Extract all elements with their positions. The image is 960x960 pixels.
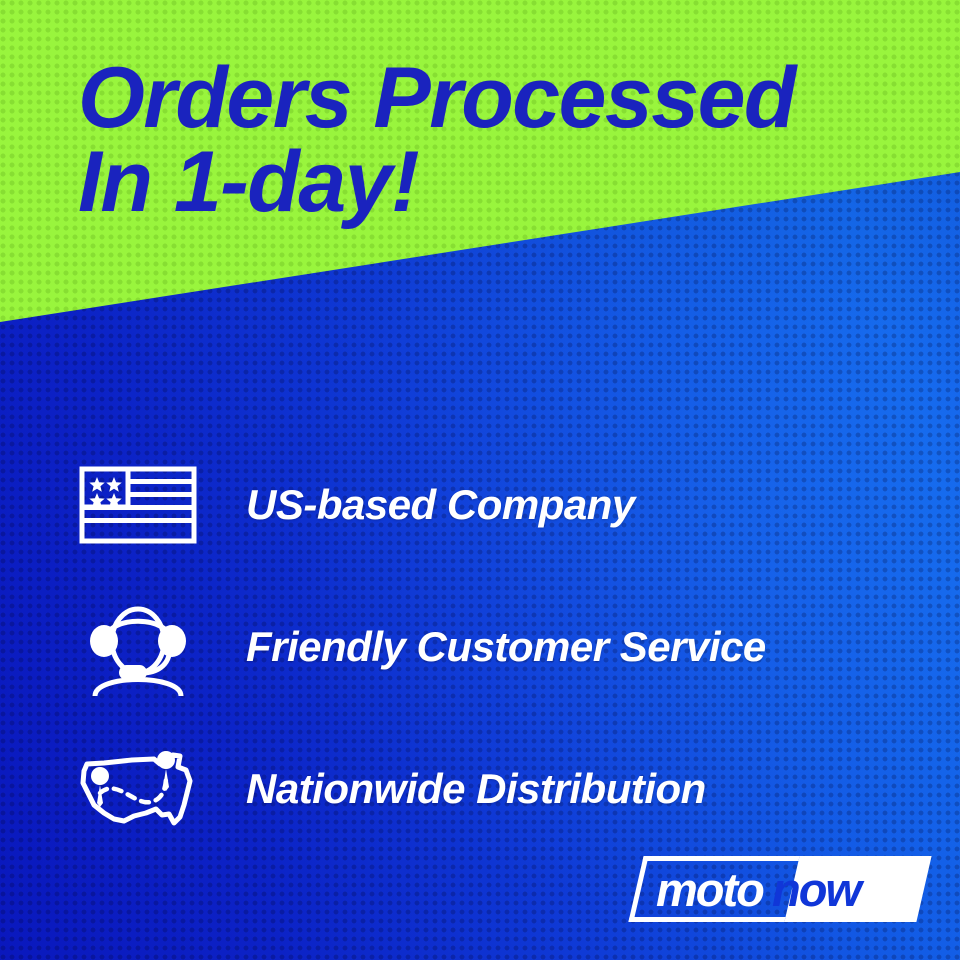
motonow-logo[interactable]: moto now [636, 856, 924, 922]
list-item-label: US-based Company [246, 481, 635, 529]
logo-text-now: now [772, 866, 860, 913]
usa-map-pins-icon [72, 737, 204, 841]
list-item: Friendly Customer Service [72, 576, 932, 718]
logo-wordmark: moto now [636, 856, 924, 922]
list-item-label: Nationwide Distribution [246, 765, 706, 813]
headset-support-icon [72, 595, 204, 699]
promo-banner: Orders Processed In 1-day! [0, 0, 960, 960]
feature-list: US-based Company [72, 434, 932, 860]
page-title: Orders Processed In 1-day! [78, 56, 908, 225]
list-item-label: Friendly Customer Service [246, 623, 766, 671]
list-item: Nationwide Distribution [72, 718, 932, 860]
logo-text-moto: moto [636, 866, 772, 913]
list-item: US-based Company [72, 434, 932, 576]
us-flag-icon [72, 453, 204, 557]
